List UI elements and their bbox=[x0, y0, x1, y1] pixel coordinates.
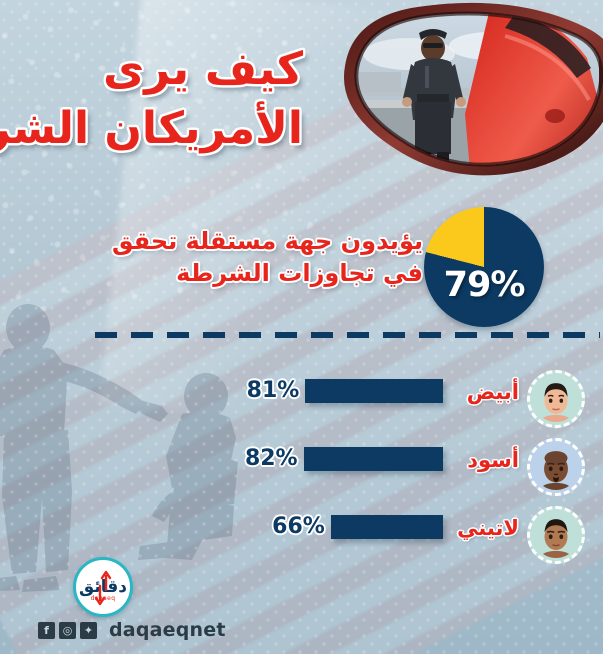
instagram-icon[interactable]: ◎ bbox=[59, 622, 76, 639]
bar-value-label: 82% bbox=[245, 446, 298, 471]
facebook-icon[interactable]: f bbox=[38, 622, 55, 639]
table-row: أسود 82% bbox=[0, 434, 603, 502]
bar-value-label: 81% bbox=[247, 378, 300, 403]
infographic-poster: كيف يرى الأمريكان الشرطة يؤيدون جهة مستق… bbox=[0, 0, 603, 654]
category-label: أبيض bbox=[467, 380, 519, 404]
subtitle-line-1: يؤيدون جهة مستقلة تحقق bbox=[93, 226, 423, 258]
brand-logo[interactable]: دقائق daqaeq bbox=[73, 557, 133, 617]
social-handle[interactable]: daqaeqnet bbox=[109, 619, 226, 641]
bar-fill bbox=[305, 379, 443, 403]
headline-line-1: كيف يرى bbox=[0, 44, 303, 94]
police-mirror-photo bbox=[319, 0, 603, 196]
subtitle-line-2: في تجاوزات الشرطة bbox=[93, 258, 423, 290]
bar-fill bbox=[331, 515, 443, 539]
page-title: كيف يرى الأمريكان الشرطة bbox=[0, 44, 303, 154]
bar-fill bbox=[304, 447, 443, 471]
dashed-divider bbox=[95, 332, 600, 338]
subtitle: يؤيدون جهة مستقلة تحقق في تجاوزات الشرطة bbox=[93, 226, 423, 289]
social-links[interactable]: f ◎ ✦ daqaeqnet bbox=[38, 619, 226, 641]
avatar-black-man bbox=[527, 438, 585, 496]
pie-chart: 79% bbox=[424, 207, 544, 327]
twitter-icon[interactable]: ✦ bbox=[80, 622, 97, 639]
category-label: أسود bbox=[467, 448, 519, 472]
category-label: لاتيني bbox=[457, 516, 519, 540]
avatar-white-man bbox=[527, 370, 585, 428]
table-row: أبيض 81% bbox=[0, 366, 603, 434]
avatar-latino-man bbox=[527, 506, 585, 564]
headline-line-2: الأمريكان الشرطة bbox=[0, 104, 303, 153]
bar-value-label: 66% bbox=[272, 514, 325, 539]
bar-chart: أبيض 81% bbox=[0, 366, 603, 570]
pie-chart-value-label: 79% bbox=[424, 265, 544, 305]
